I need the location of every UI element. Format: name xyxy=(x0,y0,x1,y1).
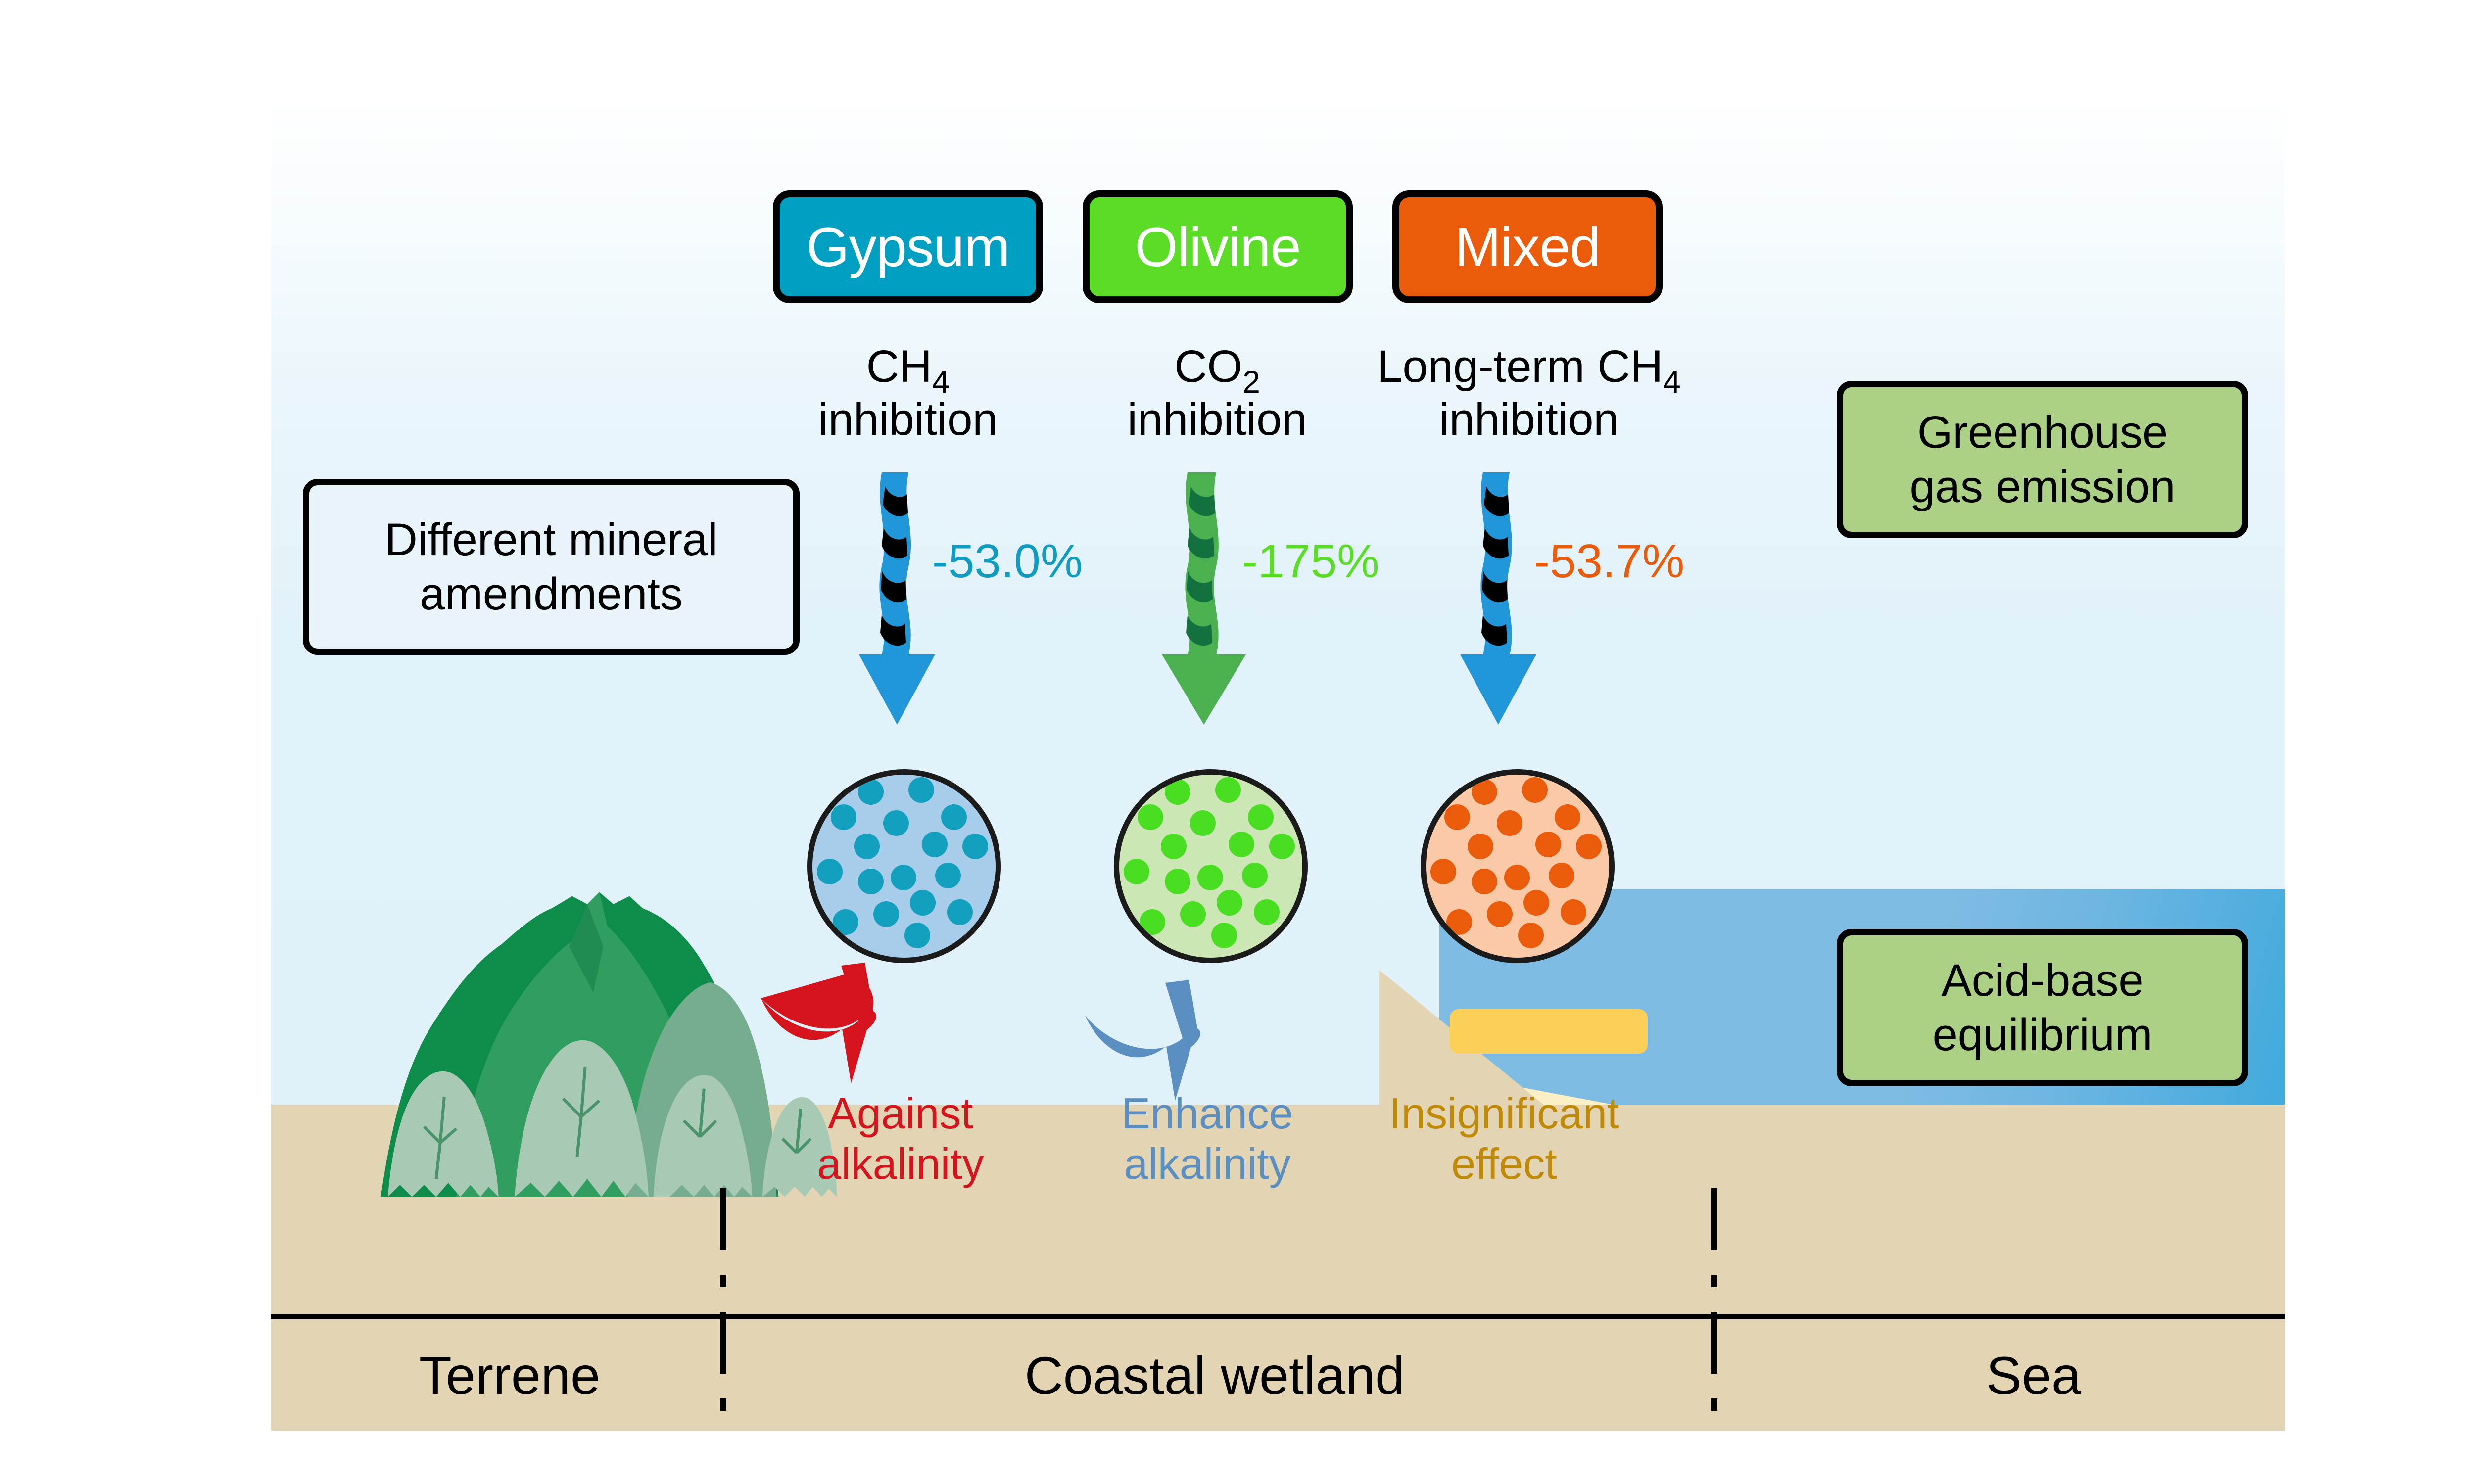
curved-arrow-enhance-alkalinity-icon xyxy=(1081,977,1363,1101)
mineral-tag-mixed[interactable]: Mixed xyxy=(1392,190,1663,303)
callout-line-2: amendments xyxy=(384,567,717,621)
mineral-tag-label: Gypsum xyxy=(807,215,1010,279)
particle-dot xyxy=(1124,859,1149,884)
particle-dot xyxy=(1472,869,1497,894)
particle-dot xyxy=(1446,909,1472,935)
particle-dish-gypsum xyxy=(807,769,1001,963)
curved-arrow-against-alkalinity-icon xyxy=(757,960,1039,1083)
ground-reference-line xyxy=(271,1314,2285,1319)
particle-dot xyxy=(941,804,967,830)
flat-bar-insignificant-effect xyxy=(1450,1009,1648,1054)
particle-dot xyxy=(922,832,948,857)
callout-line-2: equilibrium xyxy=(1933,1008,2153,1062)
effect-label-insignificant-effect: Insignificant effect xyxy=(1346,1088,1663,1189)
effect-line-2: effect xyxy=(1346,1139,1663,1189)
particle-dot xyxy=(1518,923,1544,948)
particle-dot xyxy=(1472,779,1497,805)
particle-dot xyxy=(1197,865,1223,890)
particle-dot xyxy=(1576,834,1602,859)
particle-dot xyxy=(1549,863,1574,888)
divider-wetland-sea xyxy=(1711,1188,1717,1417)
callout-line-1: Different mineral xyxy=(384,512,717,567)
callout-acid-base-equilibrium: Acid-base equilibrium xyxy=(1837,929,2248,1086)
down-arrow-longterm-ch4-icon xyxy=(1452,472,1556,725)
callout-line-1: Greenhouse xyxy=(1910,405,2176,460)
divider-terrene-wetland xyxy=(720,1188,726,1417)
particle-dot xyxy=(1165,779,1190,805)
particle-dot xyxy=(1140,909,1165,935)
particle-dot xyxy=(891,865,916,890)
zone-label-terrene: Terrene xyxy=(322,1345,698,1406)
particle-dot xyxy=(1190,810,1216,836)
caption-formula: Long-term CH xyxy=(1377,341,1663,392)
callout-line-1: Acid-base xyxy=(1933,953,2153,1008)
zone-label-coastal-wetland: Coastal wetland xyxy=(851,1345,1578,1406)
particle-dot xyxy=(817,859,843,884)
mineral-tag-label: Olivine xyxy=(1135,215,1300,279)
particle-dot xyxy=(962,834,988,859)
particle-dot xyxy=(873,901,899,927)
particle-dot xyxy=(1468,834,1493,859)
particle-dot xyxy=(854,834,880,859)
particle-dot xyxy=(858,869,884,894)
particle-dot xyxy=(1254,899,1280,925)
particle-dot xyxy=(1487,901,1513,927)
particle-dot xyxy=(883,810,909,836)
particle-dot xyxy=(831,804,856,830)
particle-dot xyxy=(1229,832,1254,857)
mineral-tag-olivine[interactable]: Olivine xyxy=(1083,190,1353,303)
particle-dot xyxy=(1497,810,1522,836)
effect-line-1: Against xyxy=(752,1088,1049,1139)
callout-different-mineral-amendments: Different mineral amendments xyxy=(303,479,800,655)
particle-dot xyxy=(947,899,973,925)
particle-dot xyxy=(1248,804,1274,830)
particle-dot xyxy=(1523,890,1549,916)
effect-label-enhance-alkalinity: Enhance alkalinity xyxy=(1059,1088,1356,1189)
particle-dot xyxy=(1211,923,1237,948)
caption-line-2: inhibition xyxy=(1346,393,1712,446)
particle-dot xyxy=(910,890,936,916)
effect-label-against-alkalinity: Against alkalinity xyxy=(752,1088,1049,1189)
particle-dot xyxy=(858,779,884,805)
percent-label-co2: -175% xyxy=(1242,534,1380,589)
particle-dish-olivine xyxy=(1114,769,1308,963)
particle-dot xyxy=(1215,777,1241,803)
particle-dot xyxy=(1242,863,1268,888)
caption-co2-inhibition: CO2 inhibition xyxy=(1059,340,1376,446)
particle-dot xyxy=(1535,832,1561,857)
mineral-tag-gypsum[interactable]: Gypsum xyxy=(773,190,1043,303)
caption-subscript: 2 xyxy=(1242,364,1260,400)
particle-dot xyxy=(1561,899,1586,925)
caption-line-2: inhibition xyxy=(1059,393,1376,446)
particle-dot xyxy=(1555,804,1580,830)
graphical-abstract: Gypsum Olivine Mixed CH4 inhibition CO2 … xyxy=(0,0,2474,1484)
effect-line-2: alkalinity xyxy=(1059,1139,1356,1189)
caption-line-1: Long-term CH4 xyxy=(1346,340,1712,393)
caption-line-2: inhibition xyxy=(750,393,1066,446)
effect-line-2: alkalinity xyxy=(752,1139,1049,1189)
caption-line-1: CO2 xyxy=(1059,340,1376,393)
particle-dot xyxy=(1161,834,1187,859)
particle-dot xyxy=(1217,890,1242,916)
percent-label-ch4: -53.0% xyxy=(932,534,1083,589)
mineral-tag-label: Mixed xyxy=(1455,215,1600,279)
callout-line-2: gas emission xyxy=(1910,460,2176,514)
particle-dot xyxy=(1444,804,1470,830)
caption-longterm-ch4-inhibition: Long-term CH4 inhibition xyxy=(1346,340,1712,446)
particle-dot xyxy=(1504,865,1530,890)
particle-dot xyxy=(935,863,961,888)
particle-dot xyxy=(1430,859,1456,884)
particle-dot xyxy=(1522,777,1548,803)
effect-line-1: Enhance xyxy=(1059,1088,1356,1139)
effect-line-1: Insignificant xyxy=(1346,1088,1663,1139)
particle-dot xyxy=(1180,901,1206,927)
particle-dot xyxy=(904,923,930,948)
particle-dot xyxy=(833,909,858,935)
particle-dot xyxy=(1165,869,1190,894)
caption-ch4-inhibition: CH4 inhibition xyxy=(750,340,1066,446)
caption-formula: CO xyxy=(1174,341,1242,392)
particle-dot xyxy=(1269,834,1295,859)
caption-subscript: 4 xyxy=(1663,364,1681,400)
down-arrow-co2-icon xyxy=(1158,472,1262,725)
percent-label-longterm-ch4: -53.7% xyxy=(1534,534,1684,589)
down-arrow-ch4-icon xyxy=(851,472,955,725)
caption-subscript: 4 xyxy=(932,364,950,400)
caption-line-1: CH4 xyxy=(750,340,1066,393)
particle-dot xyxy=(908,777,934,803)
particle-dish-mixed xyxy=(1421,769,1615,963)
callout-greenhouse-gas-emission: Greenhouse gas emission xyxy=(1837,381,2248,538)
zone-label-sea: Sea xyxy=(1860,1345,2207,1406)
particle-dot xyxy=(1138,804,1163,830)
caption-formula: CH xyxy=(866,341,932,392)
